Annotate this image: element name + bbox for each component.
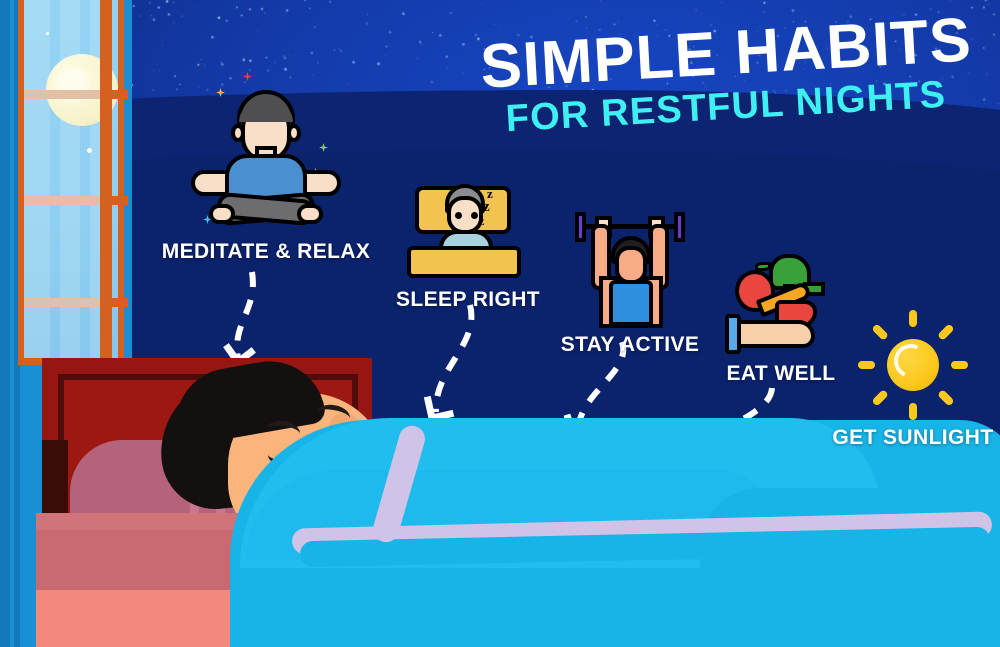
window-frame-right bbox=[100, 0, 112, 365]
habit-sleep[interactable]: z z z SLEEP RIGHT bbox=[396, 182, 536, 312]
sun-ray bbox=[871, 389, 889, 407]
habit-label: SLEEP RIGHT bbox=[396, 288, 536, 312]
sparkle-icon bbox=[243, 72, 252, 81]
habit-label: EAT WELL bbox=[716, 362, 846, 386]
hand-holding-fruit-vegetables-icon bbox=[721, 246, 841, 356]
sun-icon bbox=[858, 310, 968, 420]
habit-active[interactable]: STAY ACTIVE bbox=[560, 202, 700, 357]
sun-ray bbox=[871, 323, 889, 341]
title-block: SIMPLE HABITS FOR RESTFUL NIGHTS bbox=[466, 24, 986, 129]
habit-label: STAY ACTIVE bbox=[560, 333, 700, 357]
sun-ray bbox=[951, 361, 968, 369]
habit-sunlight[interactable]: GET SUNLIGHT bbox=[828, 310, 998, 450]
sun-ray bbox=[937, 323, 955, 341]
infographic-canvas: MEDITATE & RELAX z z z SLEEP RIGHT bbox=[0, 0, 1000, 647]
habit-eat[interactable]: EAT WELL bbox=[716, 246, 846, 386]
sun-ray bbox=[909, 310, 917, 327]
habit-meditate[interactable]: MEDITATE & RELAX bbox=[156, 84, 376, 264]
sun-ray bbox=[858, 361, 875, 369]
meditating-person-icon bbox=[181, 84, 351, 234]
sun-ray bbox=[937, 389, 955, 407]
person-sleeping-in-bed-icon: z z z bbox=[401, 182, 531, 282]
person-lifting-barbell-icon bbox=[565, 202, 695, 327]
habit-label: GET SUNLIGHT bbox=[828, 426, 998, 450]
habit-label: MEDITATE & RELAX bbox=[156, 240, 376, 264]
sun-ray bbox=[909, 403, 917, 420]
